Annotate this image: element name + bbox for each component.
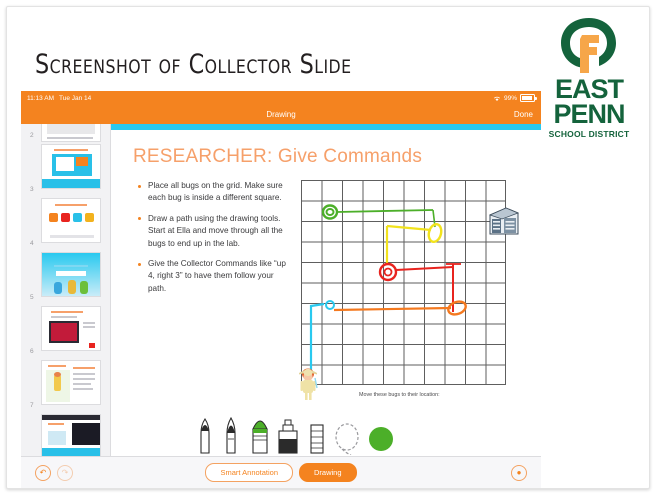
ios-status-bar: 11:13 AM Tue Jan 14 99% <box>21 91 541 105</box>
logo-text-penn: PENN <box>539 102 639 127</box>
more-options-icon[interactable]: ● <box>511 465 527 481</box>
slide-number: 5 <box>30 294 34 301</box>
slide-number: 3 <box>30 186 34 193</box>
logo-text-school-district: SCHOOL DISTRICT <box>539 129 639 139</box>
list-item: Give the Collector Commands like “up 4, … <box>137 258 289 295</box>
list-item[interactable]: 2 <box>21 124 111 140</box>
list-item[interactable]: 6 <box>21 304 111 356</box>
slide-title: RESEARCHER: Give Commands <box>133 146 422 168</box>
status-date: Tue Jan 14 <box>59 95 91 102</box>
grid-caption: Move these bugs to their location: <box>359 392 440 398</box>
navbar-title: Drawing <box>21 105 541 124</box>
page-title: Screenshot of Collector Slide <box>35 49 352 80</box>
battery-percent-label: 99% <box>504 95 517 102</box>
list-item[interactable]: 3 <box>21 142 111 194</box>
list-item[interactable]: 4 <box>21 196 111 248</box>
ipad-screenshot: 11:13 AM Tue Jan 14 99% Drawing Done <box>21 91 541 488</box>
slide-thumbnail[interactable] <box>41 360 101 405</box>
list-item[interactable]: 8 <box>21 412 111 457</box>
battery-icon <box>520 94 535 102</box>
east-penn-p-mark <box>555 15 623 77</box>
color-swatch[interactable] <box>369 427 393 451</box>
list-item: Draw a path using the drawing tools. Sta… <box>137 213 289 250</box>
slide-thumbnail[interactable] <box>41 252 101 297</box>
slide-thumbnail[interactable] <box>41 414 101 457</box>
wifi-icon <box>493 95 501 102</box>
eraser-tool[interactable] <box>311 425 323 453</box>
screenshot-page: Screenshot of Collector Slide EAST PENN … <box>0 0 656 495</box>
done-button[interactable]: Done <box>514 105 533 124</box>
app-body: 2 3 <box>21 124 541 488</box>
status-right: 99% <box>493 94 535 102</box>
lab-building-icon <box>486 205 520 237</box>
lasso-tool[interactable] <box>336 424 358 455</box>
list-item[interactable]: 7 <box>21 358 111 410</box>
slide-thumbnail[interactable] <box>41 124 101 142</box>
status-left: 11:13 AM Tue Jan 14 <box>27 95 91 102</box>
smart-annotation-button[interactable]: Smart Annotation <box>205 463 293 482</box>
list-item: Place all bugs on the grid. Make sure ea… <box>137 180 289 205</box>
presentation-slide-frame: Screenshot of Collector Slide EAST PENN … <box>6 6 650 489</box>
pen-tool[interactable] <box>201 419 209 453</box>
slide-navigator[interactable]: 2 3 <box>21 124 111 457</box>
slide-accent-bar <box>111 124 541 130</box>
slide-number: 4 <box>30 240 34 247</box>
drawing-bottom-bar: ↶ ↷ Smart Annotation Drawing ● <box>21 456 541 488</box>
east-penn-logo: EAST PENN SCHOOL DISTRICT <box>539 15 639 133</box>
drawing-button[interactable]: Drawing <box>299 463 357 482</box>
pencil-tool[interactable] <box>227 418 235 453</box>
slide-thumbnail[interactable] <box>41 144 101 189</box>
bug-grid-area[interactable]: Move these bugs to their location: <box>301 180 506 385</box>
crayon-tool[interactable] <box>253 421 267 453</box>
list-item[interactable]: 5 <box>21 250 111 302</box>
slide-number: 7 <box>30 402 34 409</box>
slide-thumbnail[interactable] <box>41 306 101 351</box>
drawing-tool-strip[interactable] <box>189 413 399 455</box>
status-time: 11:13 AM <box>27 95 54 102</box>
app-navigation-bar: Drawing Done <box>21 105 541 124</box>
slide-canvas[interactable]: RESEARCHER: Give Commands Place all bugs… <box>111 124 541 457</box>
coordinate-grid[interactable] <box>301 180 506 385</box>
slide-number: 2 <box>30 132 34 139</box>
slide-thumbnail[interactable] <box>41 198 101 243</box>
mode-toggle-group: Smart Annotation Drawing <box>21 463 541 482</box>
ella-explorer-icon <box>294 365 322 401</box>
slide-bullet-list: Place all bugs on the grid. Make sure ea… <box>137 180 289 303</box>
fill-tool[interactable] <box>279 420 297 453</box>
slide-number: 6 <box>30 348 34 355</box>
